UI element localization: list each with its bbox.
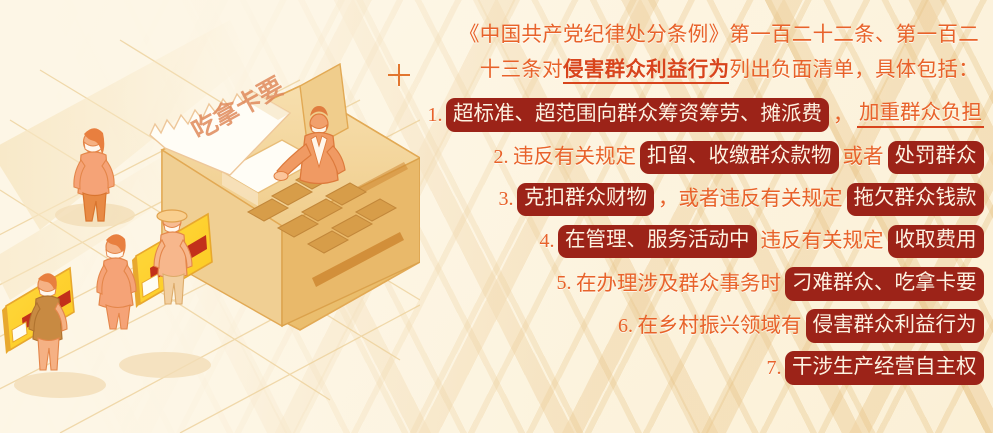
item-number: 4. (540, 230, 555, 253)
poster-canvas: 吃拿卡要 (0, 0, 993, 433)
person-in-dress (97, 234, 136, 329)
item-segment-badge: 扣留、收缴群众款物 (640, 141, 839, 175)
intro-line1: 《中国共产党纪律处分条例》第一百二十二条、第一百二 (459, 24, 979, 46)
item-segment-badge: 处罚群众 (888, 141, 984, 175)
item-number: 5. (557, 272, 572, 295)
text-content-column: 《中国共产党纪律处分条例》第一百二十二条、第一百二 十三条对侵害群众利益行为列出… (330, 18, 985, 418)
item-number: 6. (618, 315, 633, 338)
item-segment-badge: 侵害群众利益行为 (806, 309, 984, 343)
item-segment-plain: ， (831, 105, 857, 126)
item-segment-plain: 在乡村振兴领域有 (635, 316, 804, 337)
intro-highlight-term: 侵害群众利益行为 (563, 59, 729, 84)
item-number: 3. (499, 188, 514, 211)
list-item: 1. 超标准、超范围向群众筹资筹劳、摊派费 ， 加重群众负担 (330, 94, 985, 136)
item-segment-plain: 或者 (840, 147, 886, 168)
item-segment-badge: 拖欠群众钱款 (847, 183, 984, 217)
item-segment-badge: 刁难群众、吃拿卡要 (785, 267, 984, 301)
straw-hat (157, 210, 187, 222)
shadow (119, 352, 211, 378)
item-number: 1. (428, 104, 443, 127)
item-segment-badge: 在管理、服务活动中 (558, 225, 757, 259)
shadow (14, 372, 106, 398)
item-segment-plain: 在办理涉及群众事务时 (574, 274, 784, 295)
item-segment-badge: 干涉生产经营自主权 (785, 351, 984, 385)
item-segment-badge: 克扣群众财物 (517, 183, 654, 217)
item-segment-underlined: 加重群众负担 (857, 103, 984, 128)
list-item: 4. 在管理、服务活动中 违反有关规定 收取费用 (330, 221, 985, 263)
violations-list: 1. 超标准、超范围向群众筹资筹劳、摊派费 ， 加重群众负担 2. 违反有关规定… (330, 94, 985, 389)
list-item: 7. 干涉生产经营自主权 (330, 347, 985, 389)
item-segment-plain: 违反有关规定 (758, 231, 886, 252)
item-segment-plain: ，或者违反有关规定 (656, 189, 846, 210)
intro-line2-prefix: 十三条对 (480, 59, 563, 81)
intro-paragraph: 《中国共产党纪律处分条例》第一百二十二条、第一百二 十三条对侵害群众利益行为列出… (330, 18, 979, 88)
list-item: 5. 在办理涉及群众事务时 刁难群众、吃拿卡要 (330, 263, 985, 305)
item-number: 7. (767, 357, 782, 380)
item-segment-plain: 违反有关规定 (511, 147, 639, 168)
intro-line2-suffix: 列出负面清单，具体包括： (729, 59, 979, 81)
list-item: 3. 克扣群众财物 ，或者违反有关规定 拖欠群众钱款 (330, 178, 985, 220)
item-segment-badge: 超标准、超范围向群众筹资筹劳、摊派费 (446, 98, 829, 132)
item-segment-badge: 收取费用 (888, 225, 984, 259)
item-number: 2. (494, 146, 509, 169)
list-item: 6. 在乡村振兴领域有 侵害群众利益行为 (330, 305, 985, 347)
list-item: 2. 违反有关规定 扣留、收缴群众款物 或者 处罚群众 (330, 136, 985, 178)
